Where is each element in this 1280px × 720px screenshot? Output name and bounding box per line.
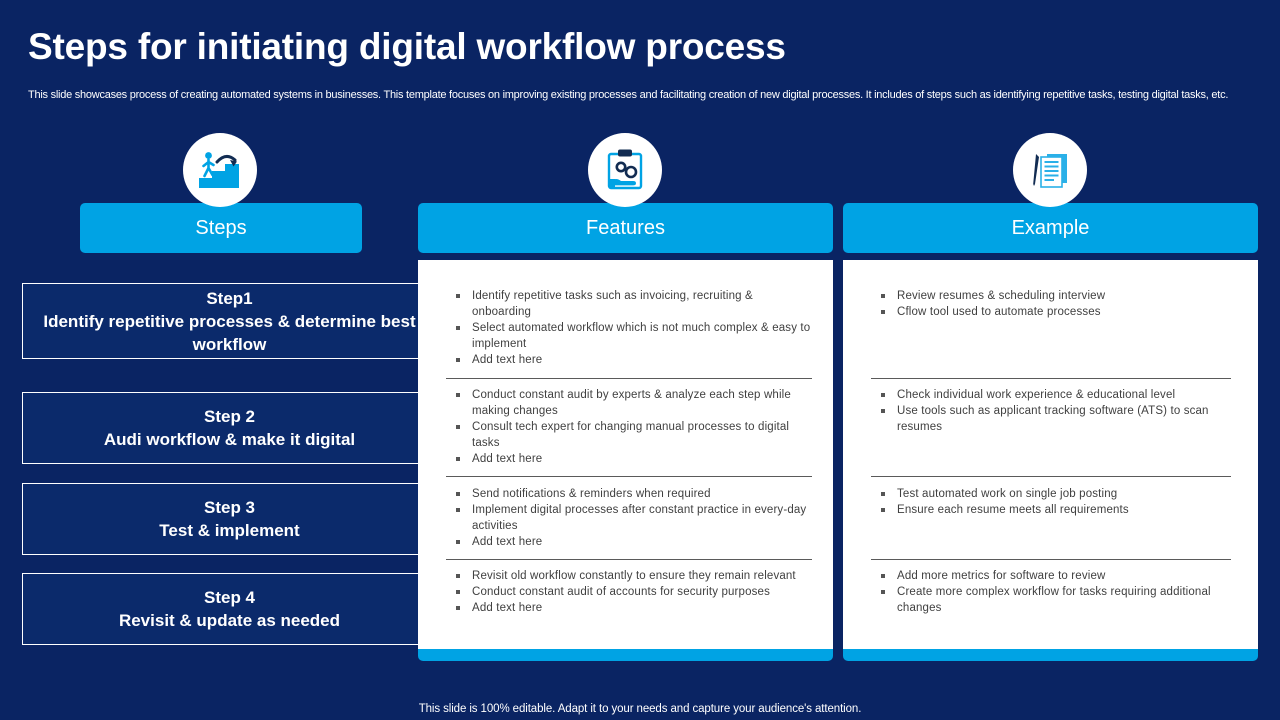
documents-pen-icon <box>1028 148 1072 192</box>
example-group-4-bullets: Add more metrics for software to review … <box>871 568 1237 616</box>
column-header-example-label: Example <box>1012 217 1090 240</box>
list-item-text: Conduct constant audit by experts & anal… <box>472 389 791 417</box>
features-group-4: Revisit old workflow constantly to ensur… <box>446 568 812 616</box>
bullet-square-icon <box>881 409 885 413</box>
features-group-3-bullets: Send notifications & reminders when requ… <box>446 486 812 550</box>
features-divider-2 <box>446 476 812 477</box>
list-item-text: Review resumes & scheduling interview <box>897 290 1105 302</box>
list-item-text: Add more metrics for software to review <box>897 570 1105 582</box>
example-group-1: Review resumes & scheduling interview Cf… <box>871 288 1237 320</box>
list-item: Select automated workflow which is not m… <box>446 320 812 352</box>
list-item: Check individual work experience & educa… <box>871 387 1237 403</box>
bullet-square-icon <box>456 358 460 362</box>
list-item: Identify repetitive tasks such as invoic… <box>446 288 812 320</box>
features-group-1-bullets: Identify repetitive tasks such as invoic… <box>446 288 812 368</box>
column-header-features[interactable]: Features <box>418 203 833 253</box>
column-header-steps-label: Steps <box>195 217 246 240</box>
list-item-text: Identify repetitive tasks such as invoic… <box>472 290 753 318</box>
example-card-footer-bar <box>843 649 1258 661</box>
features-group-2-bullets: Conduct constant audit by experts & anal… <box>446 387 812 467</box>
list-item-text: Use tools such as applicant tracking sof… <box>897 405 1209 433</box>
bullet-square-icon <box>456 508 460 512</box>
features-divider-1 <box>446 378 812 379</box>
features-card: Identify repetitive tasks such as invoic… <box>418 260 833 649</box>
list-item-text: Check individual work experience & educa… <box>897 389 1175 401</box>
list-item: Conduct constant audit of accounts for s… <box>446 584 812 600</box>
example-divider-1 <box>871 378 1231 379</box>
list-item-text: Send notifications & reminders when requ… <box>472 488 711 500</box>
example-card: Review resumes & scheduling interview Cf… <box>843 260 1258 649</box>
person-climbing-stairs-icon <box>197 150 243 190</box>
bullet-square-icon <box>456 457 460 461</box>
bullet-square-icon <box>456 393 460 397</box>
example-group-1-bullets: Review resumes & scheduling interview Cf… <box>871 288 1237 320</box>
list-item-text: Create more complex workflow for tasks r… <box>897 586 1211 614</box>
list-item-text: Revisit old workflow constantly to ensur… <box>472 570 796 582</box>
list-item-text: Ensure each resume meets all requirement… <box>897 504 1129 516</box>
list-item-text: Conduct constant audit of accounts for s… <box>472 586 770 598</box>
features-group-4-bullets: Revisit old workflow constantly to ensur… <box>446 568 812 616</box>
features-divider-3 <box>446 559 812 560</box>
bullet-square-icon <box>881 393 885 397</box>
list-item-text: Test automated work on single job postin… <box>897 488 1117 500</box>
list-item: Create more complex workflow for tasks r… <box>871 584 1237 616</box>
list-item: Add text here <box>446 534 812 550</box>
example-group-2: Check individual work experience & educa… <box>871 387 1237 435</box>
bullet-square-icon <box>456 606 460 610</box>
page-subtitle: This slide showcases process of creating… <box>28 88 1250 103</box>
step-box-1[interactable]: Step1 Identify repetitive processes & de… <box>22 283 437 359</box>
list-item-text: Consult tech expert for changing manual … <box>472 421 789 449</box>
slide-footer-note: This slide is 100% editable. Adapt it to… <box>0 703 1280 715</box>
step-3-number: Step 3 <box>204 496 255 519</box>
step-3-description: Test & implement <box>143 519 315 542</box>
slide-canvas: Steps for initiating digital workflow pr… <box>0 0 1280 720</box>
bullet-square-icon <box>881 294 885 298</box>
bullet-square-icon <box>881 574 885 578</box>
step-box-3[interactable]: Step 3 Test & implement <box>22 483 437 555</box>
list-item: Test automated work on single job postin… <box>871 486 1237 502</box>
page-title: Steps for initiating digital workflow pr… <box>28 26 786 68</box>
list-item: Add more metrics for software to review <box>871 568 1237 584</box>
bullet-square-icon <box>881 310 885 314</box>
bullet-square-icon <box>456 590 460 594</box>
list-item: Send notifications & reminders when requ… <box>446 486 812 502</box>
example-icon-circle <box>1013 133 1087 207</box>
step-2-number: Step 2 <box>204 405 255 428</box>
example-divider-3 <box>871 559 1231 560</box>
features-group-1: Identify repetitive tasks such as invoic… <box>446 288 812 368</box>
list-item: Add text here <box>446 352 812 368</box>
step-4-description: Revisit & update as needed <box>103 609 356 632</box>
list-item: Cflow tool used to automate processes <box>871 304 1237 320</box>
list-item-text: Add text here <box>472 453 542 465</box>
example-divider-2 <box>871 476 1231 477</box>
bullet-square-icon <box>881 590 885 594</box>
bullet-square-icon <box>456 425 460 429</box>
column-header-steps[interactable]: Steps <box>80 203 362 253</box>
list-item-text: Select automated workflow which is not m… <box>472 322 810 350</box>
bullet-square-icon <box>456 492 460 496</box>
bullet-square-icon <box>456 540 460 544</box>
list-item-text: Cflow tool used to automate processes <box>897 306 1101 318</box>
step-box-2[interactable]: Step 2 Audi workflow & make it digital <box>22 392 437 464</box>
bullet-square-icon <box>881 492 885 496</box>
column-header-example[interactable]: Example <box>843 203 1258 253</box>
list-item: Consult tech expert for changing manual … <box>446 419 812 451</box>
step-1-number: Step1 <box>206 287 252 310</box>
step-1-description: Identify repetitive processes & determin… <box>23 310 436 356</box>
list-item: Add text here <box>446 600 812 616</box>
list-item: Add text here <box>446 451 812 467</box>
step-2-description: Audi workflow & make it digital <box>88 428 371 451</box>
bullet-square-icon <box>881 508 885 512</box>
example-group-3-bullets: Test automated work on single job postin… <box>871 486 1237 518</box>
list-item: Conduct constant audit by experts & anal… <box>446 387 812 419</box>
steps-icon-circle <box>183 133 257 207</box>
features-card-footer-bar <box>418 649 833 661</box>
features-group-2: Conduct constant audit by experts & anal… <box>446 387 812 467</box>
list-item: Use tools such as applicant tracking sof… <box>871 403 1237 435</box>
step-4-number: Step 4 <box>204 586 255 609</box>
list-item: Review resumes & scheduling interview <box>871 288 1237 304</box>
bullet-square-icon <box>456 326 460 330</box>
features-icon-circle <box>588 133 662 207</box>
bullet-square-icon <box>456 574 460 578</box>
step-box-4[interactable]: Step 4 Revisit & update as needed <box>22 573 437 645</box>
example-group-2-bullets: Check individual work experience & educa… <box>871 387 1237 435</box>
list-item-text: Add text here <box>472 354 542 366</box>
features-group-3: Send notifications & reminders when requ… <box>446 486 812 550</box>
bullet-square-icon <box>456 294 460 298</box>
clipboard-gears-hand-icon <box>604 148 646 192</box>
list-item: Revisit old workflow constantly to ensur… <box>446 568 812 584</box>
list-item: Implement digital processes after consta… <box>446 502 812 534</box>
list-item-text: Implement digital processes after consta… <box>472 504 806 532</box>
list-item-text: Add text here <box>472 536 542 548</box>
example-group-4: Add more metrics for software to review … <box>871 568 1237 616</box>
list-item-text: Add text here <box>472 602 542 614</box>
list-item: Ensure each resume meets all requirement… <box>871 502 1237 518</box>
column-header-features-label: Features <box>586 217 665 240</box>
example-group-3: Test automated work on single job postin… <box>871 486 1237 518</box>
